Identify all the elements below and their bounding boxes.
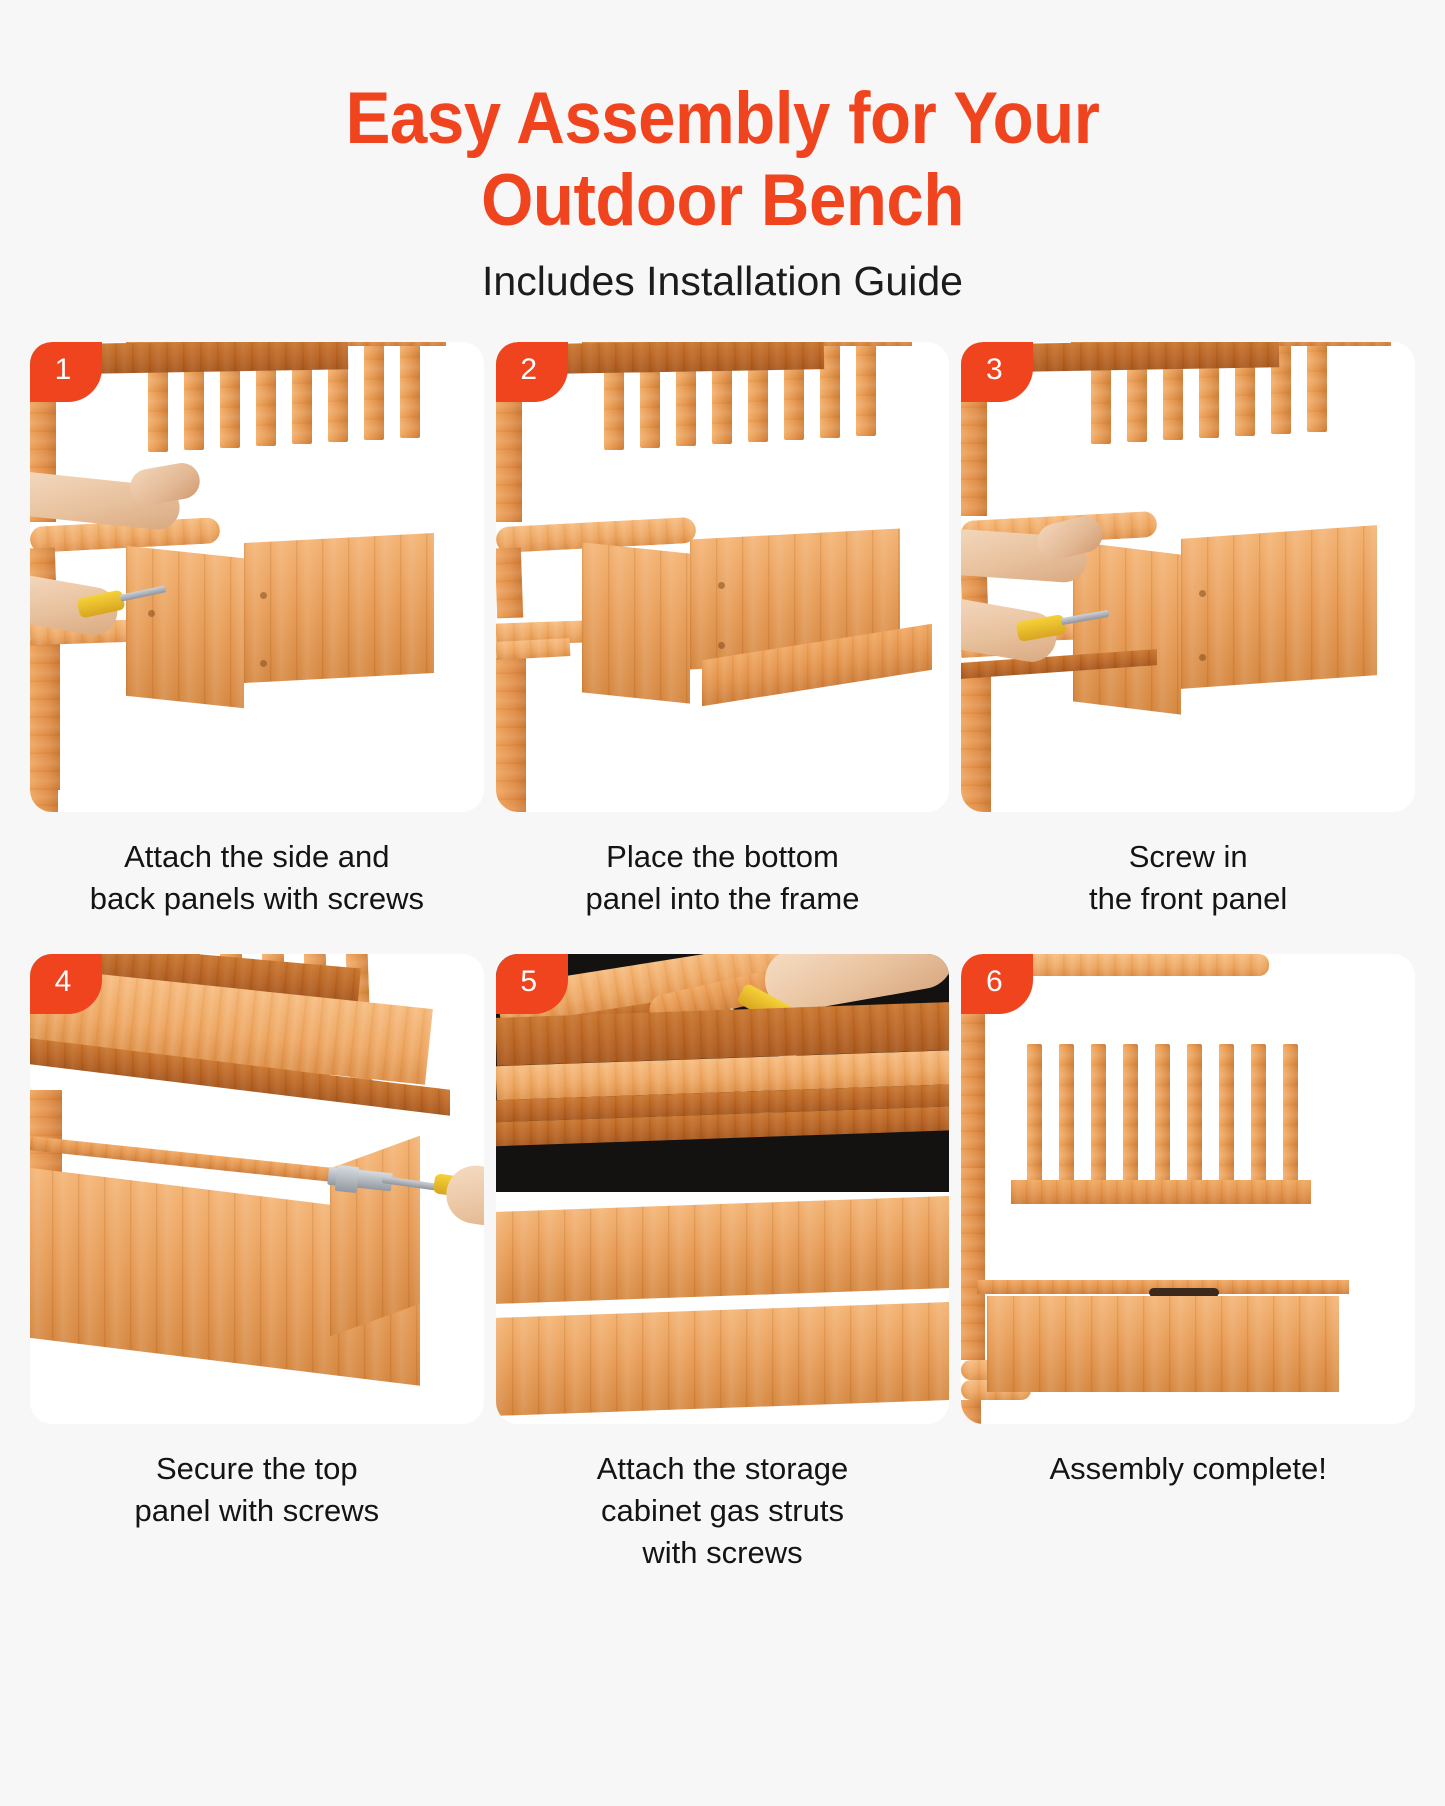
caption-line: panel with screws [30, 1490, 484, 1532]
cabinet-front-lower [496, 1302, 950, 1416]
scene-top-panel [30, 954, 484, 1424]
caption-line: back panels with screws [30, 878, 484, 920]
assembly-steps-grid: 1 Attach the side and back panels with s… [0, 342, 1445, 1574]
step-5-photo: 5 [496, 954, 950, 1424]
front-panel [1181, 525, 1377, 689]
caption-line: Place the bottom [496, 836, 950, 878]
scene-bottom-panel [496, 342, 950, 812]
step-3-caption: Screw in the front panel [961, 836, 1415, 932]
step-card-2: 2 Place the bottom panel into the frame [496, 342, 950, 932]
page-title: Easy Assembly for Your Outdoor Bench [58, 78, 1387, 242]
caption-line: with screws [496, 1532, 950, 1574]
step-1-photo: 1 [30, 342, 484, 812]
step-card-6: 6 Assembly complete! [961, 954, 1415, 1574]
step-4-photo: 4 [30, 954, 484, 1424]
caption-line: cabinet gas struts [496, 1490, 950, 1532]
page-subtitle: Includes Installation Guide [0, 256, 1445, 306]
scene-side-back-panels [30, 342, 484, 812]
caption-line: Secure the top [30, 1448, 484, 1490]
step-card-4: 4 Secure the top panel with screws [30, 954, 484, 1574]
title-line-2: Outdoor Bench [58, 160, 1387, 242]
step-2-photo: 2 [496, 342, 950, 812]
title-line-1: Easy Assembly for Your [58, 78, 1387, 160]
cabinet-body [987, 1296, 1339, 1392]
step-2-caption: Place the bottom panel into the frame [496, 836, 950, 932]
step-card-1: 1 Attach the side and back panels with s… [30, 342, 484, 932]
caption-line: Screw in [961, 836, 1415, 878]
cabinet-front-upper [496, 1196, 950, 1304]
caption-line: Attach the storage [496, 1448, 950, 1490]
step-1-caption: Attach the side and back panels with scr… [30, 836, 484, 932]
caption-line: Attach the side and [30, 836, 484, 878]
scene-front-panel [961, 342, 1415, 812]
step-3-photo: 3 [961, 342, 1415, 812]
step-card-5: 5 Attach the storage cabinet gas struts … [496, 954, 950, 1574]
step-badge-2: 2 [496, 342, 568, 402]
scene-gas-struts [496, 954, 950, 1424]
caption-line: the front panel [961, 878, 1415, 920]
step-card-3: 3 Screw in the front panel [961, 342, 1415, 932]
hand [443, 1162, 484, 1236]
caption-line: panel into the frame [496, 878, 950, 920]
scene-finished-bench [961, 954, 1415, 1424]
caption-line: Assembly complete! [961, 1448, 1415, 1490]
step-4-caption: Secure the top panel with screws [30, 1448, 484, 1544]
step-5-caption: Attach the storage cabinet gas struts wi… [496, 1448, 950, 1574]
step-6-caption: Assembly complete! [961, 1448, 1415, 1544]
page-header: Easy Assembly for Your Outdoor Bench Inc… [0, 0, 1445, 306]
step-badge-5: 5 [496, 954, 568, 1014]
step-6-photo: 6 [961, 954, 1415, 1424]
